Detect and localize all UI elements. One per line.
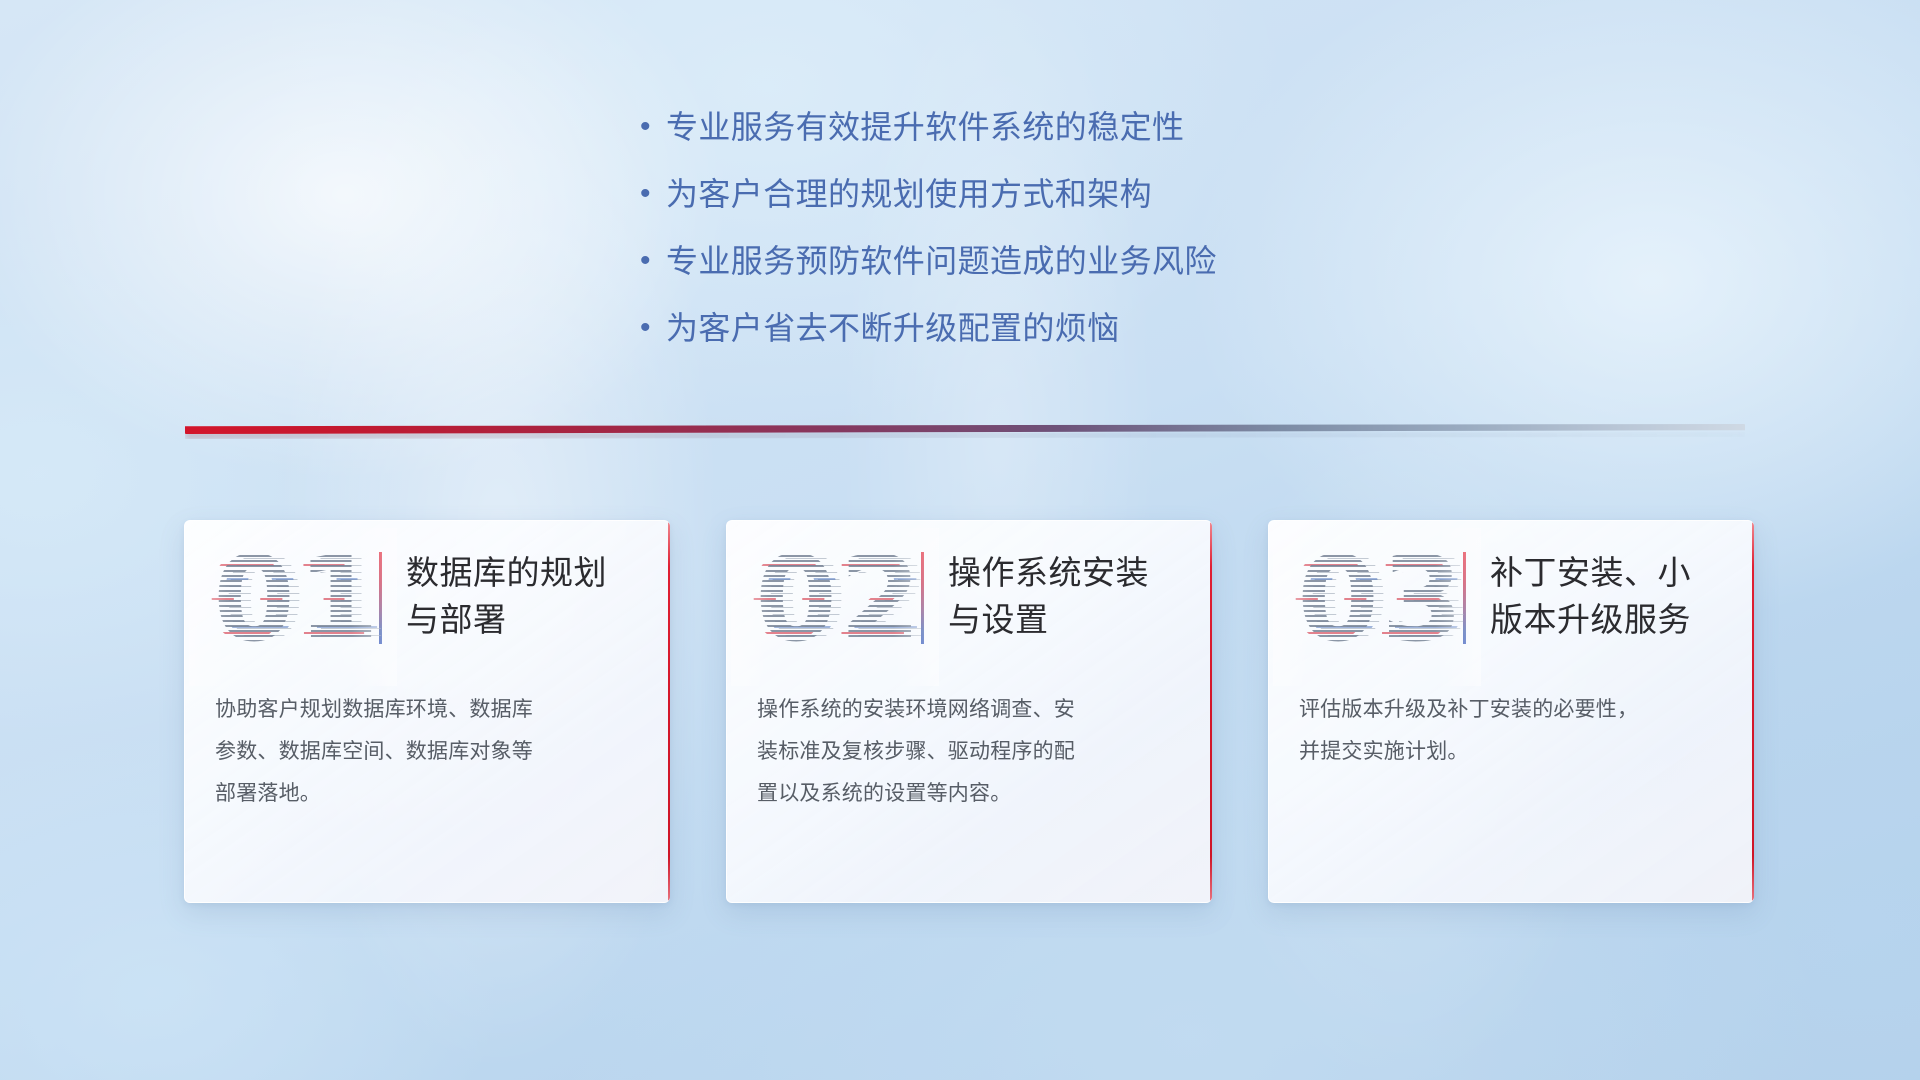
card-number-graphic: 02 02 02 02	[755, 548, 915, 666]
card-body: 操作系统的安装环境网络调查、安 装标准及复核步骤、驱动程序的配 置以及系统的设置…	[727, 667, 1212, 815]
card-number: 01	[213, 530, 373, 668]
card-title: 补丁安装、小 版本升级服务	[1490, 544, 1724, 643]
list-item: • 专业服务预防软件问题造成的业务风险	[640, 242, 1540, 280]
card-body-line: 参数、数据库空间、数据库对象等	[215, 731, 630, 773]
bullet-dot-icon: •	[640, 242, 666, 280]
benefits-bullet-list: • 专业服务有效提升软件系统的稳定性 • 为客户合理的规划使用方式和架构 • 专…	[640, 108, 1540, 376]
card-body-line: 部署落地。	[215, 773, 630, 815]
card-body-line: 装标准及复核步骤、驱动程序的配	[757, 731, 1172, 773]
card-number: 02	[755, 530, 915, 668]
service-card[interactable]: 02 02 02 02 操作系统安装 与设置 操作系统的安装环境网络调查、安 装…	[726, 520, 1212, 903]
bullet-dot-icon: •	[640, 309, 666, 347]
section-divider	[185, 424, 1745, 442]
card-title: 数据库的规划 与部署	[406, 544, 640, 643]
card-body-line: 并提交实施计划。	[1299, 731, 1714, 773]
bullet-text: 为客户合理的规划使用方式和架构	[666, 175, 1152, 213]
card-body-line: 协助客户规划数据库环境、数据库	[215, 689, 630, 731]
card-title-line: 版本升级服务	[1490, 596, 1724, 643]
service-card[interactable]: 03 03 03 03 补丁安装、小 版本升级服务 评估版本升级及补丁安装的必要…	[1268, 520, 1754, 903]
bullet-dot-icon: •	[640, 108, 666, 146]
card-body-line: 操作系统的安装环境网络调查、安	[757, 689, 1172, 731]
list-item: • 为客户合理的规划使用方式和架构	[640, 175, 1540, 213]
card-title-line: 操作系统安装	[948, 549, 1182, 596]
card-title-line: 数据库的规划	[406, 549, 640, 596]
bullet-text: 为客户省去不断升级配置的烦恼	[666, 309, 1120, 347]
slide-canvas: • 专业服务有效提升软件系统的稳定性 • 为客户合理的规划使用方式和架构 • 专…	[0, 0, 1920, 1080]
card-body: 协助客户规划数据库环境、数据库 参数、数据库空间、数据库对象等 部署落地。	[185, 667, 670, 815]
card-title-line: 与部署	[406, 596, 640, 643]
bullet-text: 专业服务有效提升软件系统的稳定性	[666, 108, 1184, 146]
card-body-line: 评估版本升级及补丁安装的必要性，	[1299, 689, 1714, 731]
bullet-dot-icon: •	[640, 175, 666, 213]
bullet-text: 专业服务预防软件问题造成的业务风险	[666, 242, 1217, 280]
card-number-graphic: 03 03 03 03	[1297, 548, 1457, 666]
service-card[interactable]: 01 01 01 01 数据库的规划 与部署 协助客户规划数据库环境、数据库 参…	[184, 520, 670, 903]
card-header: 02 02 02 02 操作系统安装 与设置	[727, 521, 1212, 667]
card-number-graphic: 01 01 01 01	[213, 548, 373, 666]
card-number: 03	[1297, 530, 1457, 668]
card-body-line: 置以及系统的设置等内容。	[757, 773, 1172, 815]
card-header: 03 03 03 03 补丁安装、小 版本升级服务	[1269, 521, 1754, 667]
card-title-line: 补丁安装、小	[1490, 549, 1724, 596]
card-title: 操作系统安装 与设置	[948, 544, 1182, 643]
service-card-group: 01 01 01 01 数据库的规划 与部署 协助客户规划数据库环境、数据库 参…	[184, 520, 1754, 903]
card-header: 01 01 01 01 数据库的规划 与部署	[185, 521, 670, 667]
card-title-line: 与设置	[948, 596, 1182, 643]
list-item: • 专业服务有效提升软件系统的稳定性	[640, 108, 1540, 146]
list-item: • 为客户省去不断升级配置的烦恼	[640, 309, 1540, 347]
card-body: 评估版本升级及补丁安装的必要性， 并提交实施计划。	[1269, 667, 1754, 773]
